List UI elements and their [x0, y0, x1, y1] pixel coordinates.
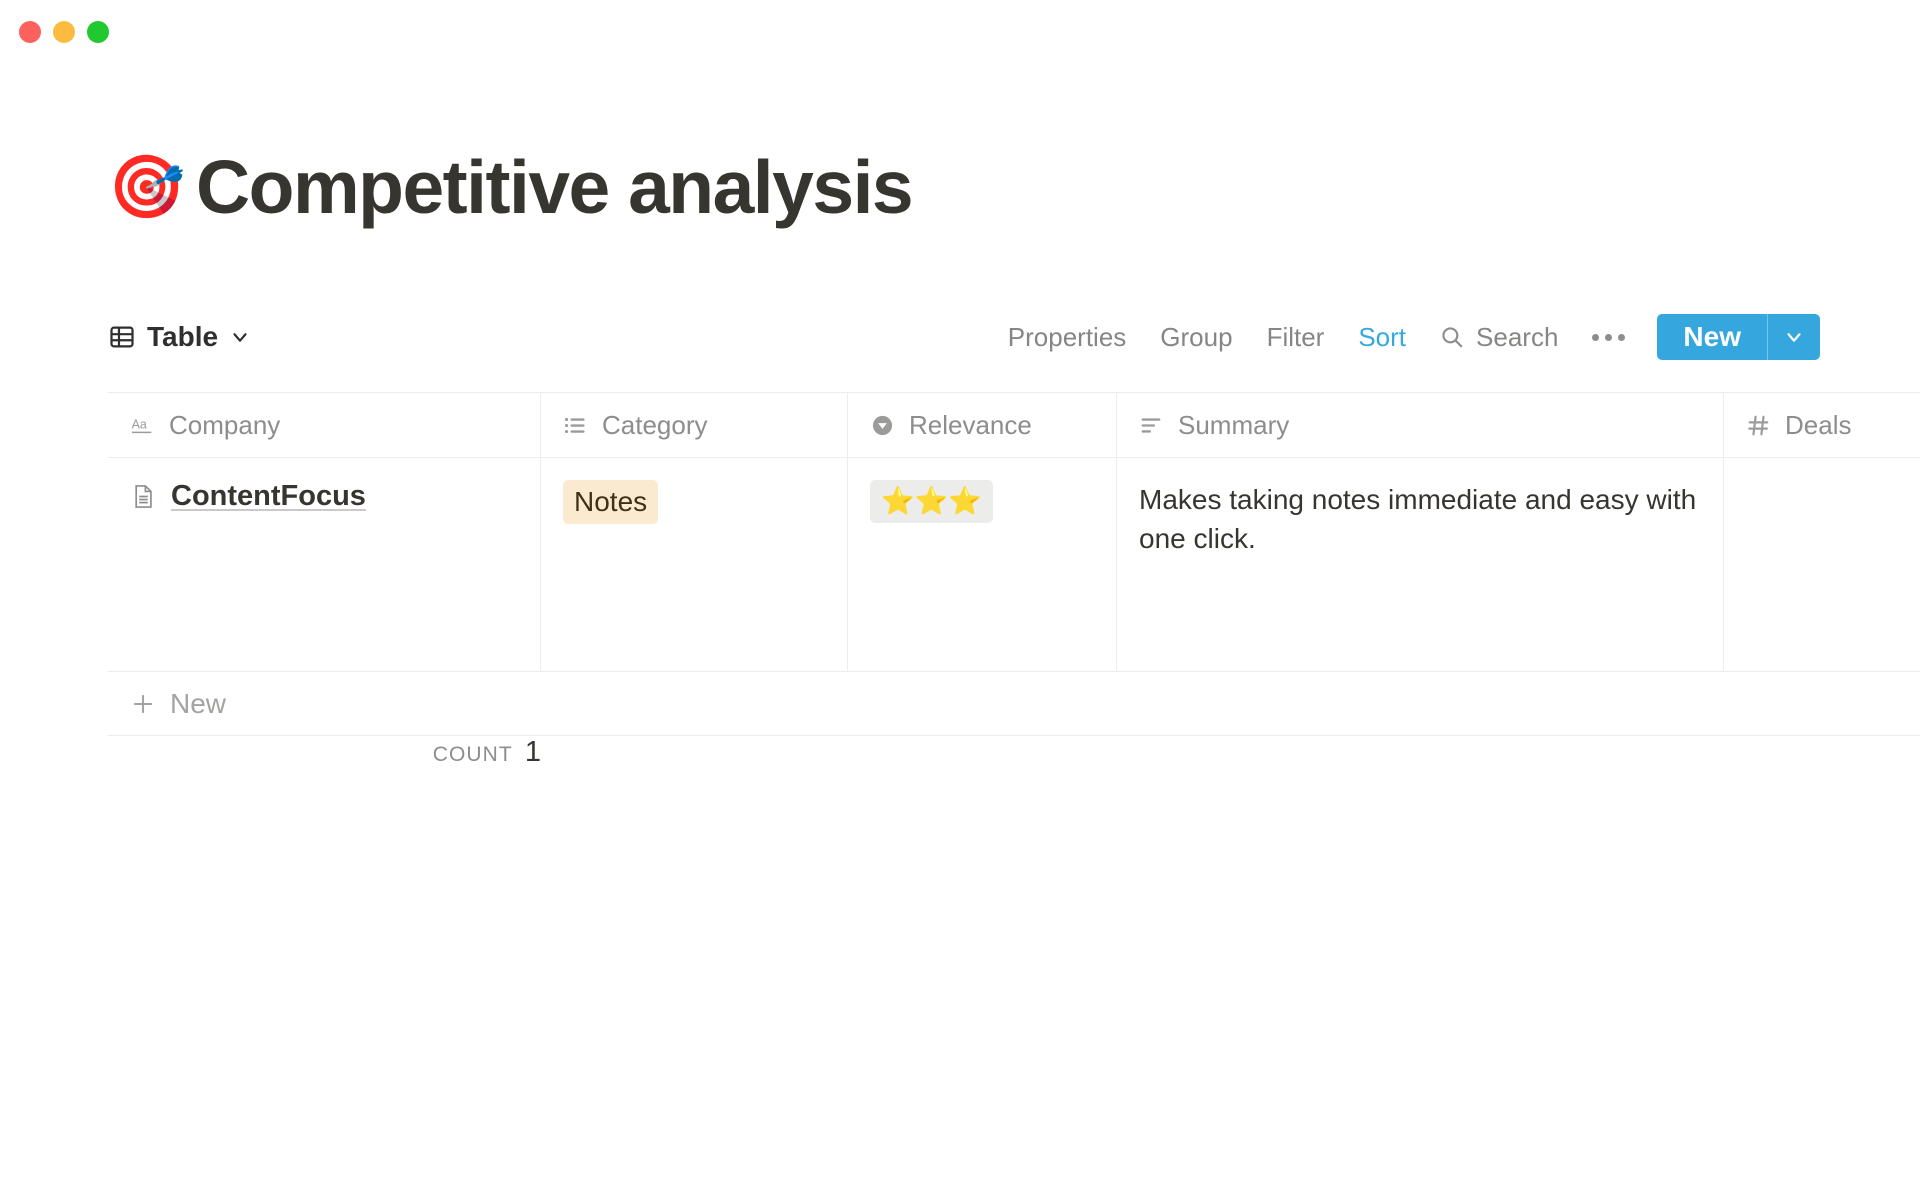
column-header-label: Deals — [1785, 410, 1851, 441]
category-tag[interactable]: Notes — [563, 480, 658, 524]
toolbar-sort-button[interactable]: Sort — [1341, 322, 1423, 353]
table-footer: Count 1 — [108, 736, 1920, 802]
table-header-row: Aa Company Category — [108, 392, 1920, 458]
add-new-row-button[interactable]: New — [108, 672, 1920, 736]
toolbar-search-label: Search — [1476, 322, 1558, 353]
view-tab-label: Table — [147, 321, 218, 353]
cell-company[interactable]: ContentFocus — [108, 458, 541, 671]
table-row[interactable]: ContentFocus Notes ⭐⭐⭐ Makes taking note… — [108, 458, 1920, 672]
cell-summary[interactable]: Makes taking notes immediate and easy wi… — [1117, 458, 1724, 671]
column-header-label: Category — [602, 410, 708, 441]
column-header-deals[interactable]: Deals — [1724, 393, 1920, 457]
text-lines-property-icon — [1139, 413, 1164, 438]
cell-company-value[interactable]: ContentFocus — [171, 480, 366, 513]
svg-text:Aa: Aa — [132, 417, 147, 431]
page-emoji-icon[interactable]: 🎯 — [108, 157, 174, 219]
toolbar-group-button[interactable]: Group — [1143, 322, 1249, 353]
footer-count-label: Count — [433, 743, 513, 767]
view-toolbar: Table Properties Group Filter Sort Searc — [108, 312, 1820, 362]
new-button[interactable]: New — [1657, 314, 1820, 360]
toolbar-filter-button[interactable]: Filter — [1250, 322, 1342, 353]
new-button-dropdown[interactable] — [1767, 314, 1820, 360]
page-title[interactable]: Competitive analysis — [196, 150, 912, 225]
column-header-summary[interactable]: Summary — [1117, 393, 1724, 457]
zoom-button[interactable] — [87, 21, 109, 43]
cell-category[interactable]: Notes — [541, 458, 848, 671]
plus-icon — [130, 691, 156, 717]
cell-relevance[interactable]: ⭐⭐⭐ — [848, 458, 1117, 671]
table-icon — [108, 323, 136, 351]
column-header-company[interactable]: Aa Company — [108, 393, 541, 457]
search-icon — [1439, 324, 1465, 350]
page-header: 🎯 Competitive analysis — [108, 150, 912, 225]
add-new-row-label: New — [170, 688, 226, 720]
column-header-label: Summary — [1178, 410, 1289, 441]
close-button[interactable] — [19, 21, 41, 43]
view-tab-table[interactable]: Table — [108, 321, 251, 353]
text-property-icon: Aa — [130, 413, 155, 438]
cell-summary-value: Makes taking notes immediate and easy wi… — [1139, 480, 1701, 558]
select-property-icon — [563, 413, 588, 438]
window-titlebar — [0, 0, 1920, 62]
toolbar-actions: Properties Group Filter Sort Search New — [991, 314, 1820, 360]
new-button-label: New — [1657, 314, 1767, 360]
database-table: Aa Company Category — [108, 392, 1920, 802]
footer-count-value: 1 — [525, 736, 541, 769]
column-header-category[interactable]: Category — [541, 393, 848, 457]
relevance-tag[interactable]: ⭐⭐⭐ — [870, 480, 993, 523]
column-header-label: Company — [169, 410, 280, 441]
toolbar-properties-button[interactable]: Properties — [991, 322, 1144, 353]
column-header-relevance[interactable]: Relevance — [848, 393, 1117, 457]
toolbar-search-button[interactable]: Search — [1423, 322, 1574, 353]
cell-deals[interactable] — [1724, 458, 1920, 671]
status-property-icon — [870, 413, 895, 438]
window-controls — [19, 21, 109, 43]
minimize-button[interactable] — [53, 21, 75, 43]
page-icon — [130, 483, 157, 510]
footer-count-company[interactable]: Count 1 — [130, 736, 563, 769]
number-property-icon — [1746, 413, 1771, 438]
chevron-down-icon[interactable] — [229, 326, 251, 348]
column-header-label: Relevance — [909, 410, 1032, 441]
ellipsis-icon[interactable] — [1574, 334, 1643, 341]
